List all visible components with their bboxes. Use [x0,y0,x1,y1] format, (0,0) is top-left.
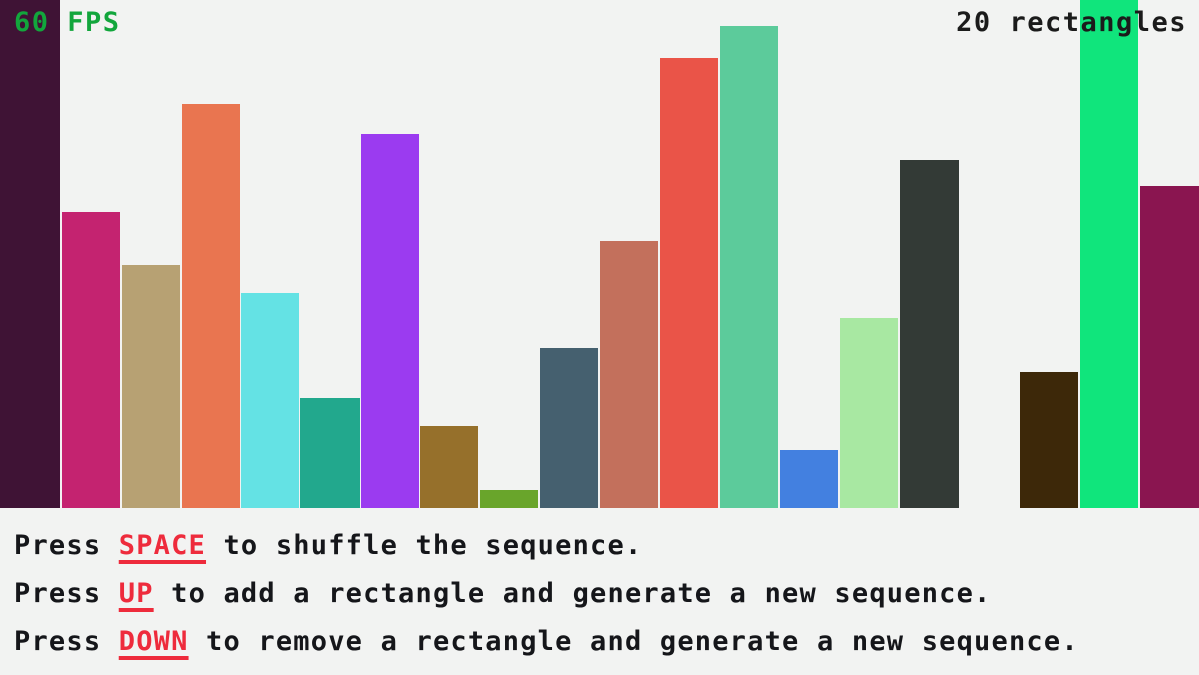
instruction-line-1: Press SPACE to shuffle the sequence. [14,522,1199,570]
instruction-line-2: Press UP to add a rectangle and generate… [14,570,1199,618]
instruction-prefix: Press [14,530,119,561]
bar-rectangle-10 [540,348,598,508]
fps-counter: 60 FPS [14,9,121,36]
key-hint-down[interactable]: DOWN [119,626,189,657]
bar-rectangle-7 [361,134,419,508]
instruction-prefix: Press [14,626,119,657]
instructions-panel: Press SPACE to shuffle the sequence.Pres… [0,508,1199,675]
instruction-suffix: to shuffle the sequence. [206,530,642,561]
instruction-suffix: to add a rectangle and generate a new se… [154,578,992,609]
key-hint-up[interactable]: UP [119,578,154,609]
bar-rectangle-4 [182,104,240,508]
bar-rectangle-3 [122,265,180,508]
rectangle-bar-chart [0,0,1199,508]
bar-rectangle-6 [300,398,360,508]
app-root: 60 FPS 20 rectangles Press SPACE to shuf… [0,0,1199,675]
key-hint-space[interactable]: SPACE [119,530,206,561]
instruction-prefix: Press [14,578,119,609]
bar-rectangle-16 [900,160,959,508]
bar-rectangle-19 [1140,186,1199,508]
bar-rectangle-5 [241,293,299,508]
bar-rectangle-12 [660,58,718,508]
bar-rectangle-8 [420,426,478,508]
bar-rectangle-17 [1020,372,1078,508]
bar-rectangle-18 [1080,0,1138,508]
rectangle-count-label: 20 rectangles [956,9,1187,36]
bar-rectangle-15 [840,318,898,508]
bar-rectangle-1 [0,0,60,508]
bar-rectangle-11 [600,241,658,508]
bar-rectangle-2 [62,212,120,508]
bar-rectangle-14 [780,450,838,508]
instruction-suffix: to remove a rectangle and generate a new… [189,626,1079,657]
bar-rectangle-9 [480,490,538,508]
bar-rectangle-13 [720,26,778,508]
instruction-line-3: Press DOWN to remove a rectangle and gen… [14,618,1199,666]
